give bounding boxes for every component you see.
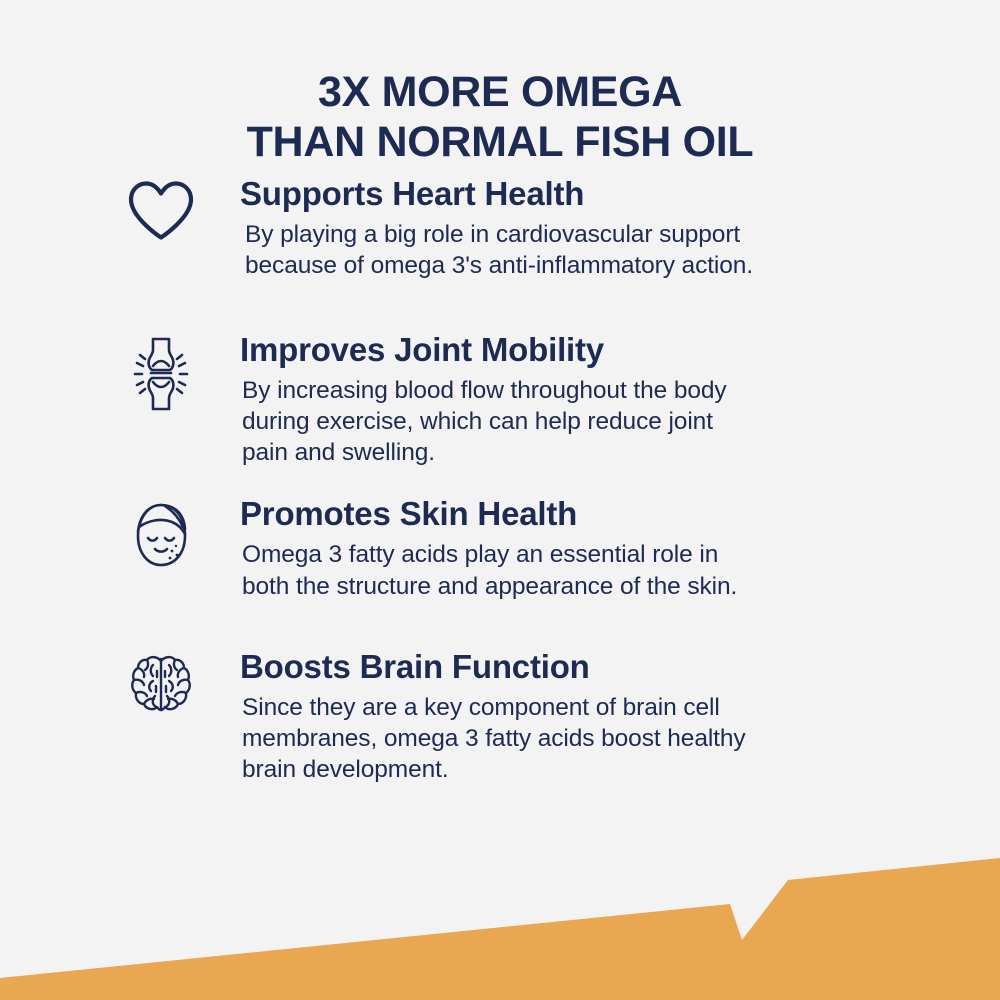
benefit-desc-line-2: membranes, omega 3 fatty acids boost hea… bbox=[242, 723, 844, 754]
benefit-desc-line-2: during exercise, which can help reduce j… bbox=[242, 406, 844, 437]
headline-line-2: THAN NORMAL FISH OIL bbox=[0, 117, 1000, 167]
benefit-desc-line-1: Omega 3 fatty acids play an essential ro… bbox=[242, 539, 844, 570]
benefit-desc-line-3: pain and swelling. bbox=[242, 437, 844, 468]
benefit-desc-line-1: By increasing blood flow throughout the … bbox=[242, 375, 844, 406]
poster-canvas: .wm { fill: #ededed; font-family: "Liber… bbox=[0, 0, 1000, 1000]
benefit-title: Supports Heart Health bbox=[240, 176, 844, 212]
benefit-description: Since they are a key component of brain … bbox=[240, 692, 844, 785]
joint-icon bbox=[118, 332, 204, 418]
headline-line-1: 3X MORE OMEGA bbox=[0, 67, 1000, 117]
benefit-desc-line-2: both the structure and appearance of the… bbox=[242, 571, 844, 602]
benefit-title: Improves Joint Mobility bbox=[240, 332, 844, 368]
benefit-desc-line-3: brain development. bbox=[242, 754, 844, 785]
benefit-desc-line-2: because of omega 3's anti-inflammatory a… bbox=[245, 250, 844, 281]
benefits-list: Supports Heart Health By playing a big r… bbox=[0, 176, 1000, 785]
benefit-item-skin: Promotes Skin Health Omega 3 fatty acids… bbox=[0, 496, 1000, 602]
face-skin-icon bbox=[118, 496, 204, 582]
benefit-text-brain: Boosts Brain Function Since they are a k… bbox=[204, 649, 844, 786]
benefit-item-brain: Boosts Brain Function Since they are a k… bbox=[0, 649, 1000, 786]
brain-icon bbox=[118, 649, 204, 735]
heart-icon bbox=[118, 176, 204, 262]
benefit-description: By playing a big role in cardiovascular … bbox=[240, 219, 844, 281]
benefit-item-heart: Supports Heart Health By playing a big r… bbox=[0, 176, 1000, 282]
benefit-desc-line-1: By playing a big role in cardiovascular … bbox=[245, 219, 844, 250]
benefit-desc-line-1: Since they are a key component of brain … bbox=[242, 692, 844, 723]
benefit-description: By increasing blood flow throughout the … bbox=[240, 375, 844, 468]
poster-content: 3X MORE OMEGA THAN NORMAL FISH OIL Suppo… bbox=[0, 0, 1000, 1000]
benefit-title: Promotes Skin Health bbox=[240, 496, 844, 532]
benefit-description: Omega 3 fatty acids play an essential ro… bbox=[240, 539, 844, 601]
benefit-text-joint: Improves Joint Mobility By increasing bl… bbox=[204, 332, 844, 469]
benefit-title: Boosts Brain Function bbox=[240, 649, 844, 685]
page-title: 3X MORE OMEGA THAN NORMAL FISH OIL bbox=[0, 67, 1000, 168]
benefit-text-heart: Supports Heart Health By playing a big r… bbox=[204, 176, 844, 282]
benefit-text-skin: Promotes Skin Health Omega 3 fatty acids… bbox=[204, 496, 844, 602]
benefit-item-joint: Improves Joint Mobility By increasing bl… bbox=[0, 332, 1000, 469]
